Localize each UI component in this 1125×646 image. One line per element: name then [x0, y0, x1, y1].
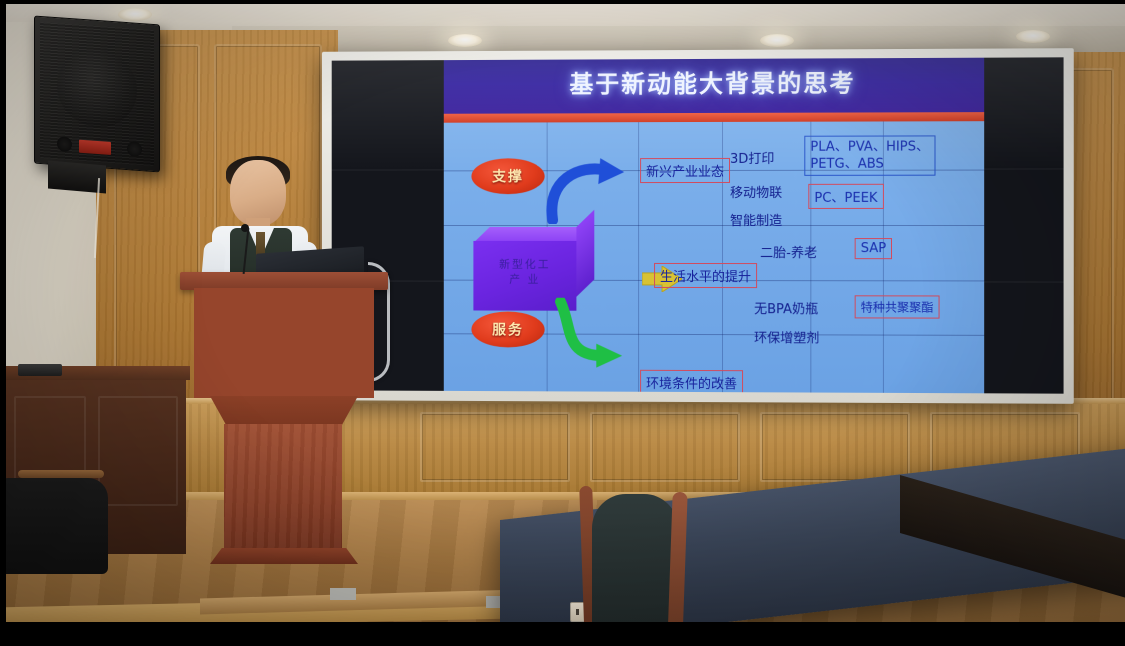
- speaker-port-icon: [127, 141, 142, 157]
- application-bpa-free-bottle: 无BPA奶瓶: [754, 298, 818, 317]
- desk-object: [18, 364, 62, 376]
- application-two-child-elderly: 二胎-养老: [760, 242, 817, 261]
- cube-label-line1: 新型化工: [473, 257, 576, 272]
- letterbox-top: [0, 0, 1125, 4]
- speaker-brand-badge: [79, 140, 111, 155]
- slide-ellipse-service: 服务: [471, 311, 544, 347]
- presentation-slide: 基于新动能大背景的思考 支撑: [444, 58, 984, 394]
- materials-3d-printing: PLA、PVA、HIPS、 PETG、ABS: [804, 135, 935, 175]
- green-curved-arrow-icon: [539, 298, 634, 374]
- lectern-column: [224, 424, 342, 554]
- application-eco-plasticizer: 环保增塑剂: [754, 327, 819, 346]
- slide-gridline: [638, 122, 639, 392]
- cube-label: 新型化工 产 业: [473, 257, 576, 287]
- ellipse-label: 服务: [492, 319, 524, 339]
- cube-label-line2: 产 业: [473, 272, 576, 287]
- outcome-label-environment: 环境条件的改善: [640, 370, 743, 394]
- led-video-wall[interactable]: 基于新动能大背景的思考 支撑: [322, 48, 1074, 404]
- downlight-icon: [1016, 30, 1050, 43]
- materials-special-copolyester: 特种共聚聚酯: [855, 295, 940, 318]
- desk-panel: [98, 396, 178, 506]
- outcome-label-new-industry: 新兴产业业态: [640, 158, 730, 183]
- materials-pc-peek: PC、PEEK: [808, 184, 883, 209]
- chair-right: [578, 478, 696, 646]
- materials-line-1: PLA、PVA、HIPS、: [810, 138, 929, 155]
- chair-left-armrest: [18, 470, 104, 478]
- conference-room-scene: 基于新动能大背景的思考 支撑: [0, 0, 1125, 646]
- led-screen-surface: 基于新动能大背景的思考 支撑: [332, 57, 1064, 393]
- slide-title: 基于新动能大背景的思考: [444, 63, 984, 100]
- chair-left: [0, 478, 108, 574]
- speaker-port-icon: [57, 136, 72, 152]
- ellipse-label: 支撑: [492, 166, 524, 186]
- cube-side-face: [576, 210, 594, 297]
- lectern: [188, 272, 380, 562]
- lectern-base: [210, 548, 358, 564]
- slide-body: 支撑 新型化工 产 业: [444, 121, 984, 393]
- letterbox-bottom: [0, 622, 1125, 646]
- application-3d-printing: 3D打印: [730, 148, 774, 167]
- application-mobile-iot: 移动物联: [730, 182, 782, 201]
- slide-ellipse-support: 支撑: [471, 158, 544, 194]
- presenter-head: [230, 160, 286, 226]
- downlight-icon: [448, 34, 482, 47]
- wall-panel: [760, 412, 910, 482]
- cable-clip: [330, 588, 356, 600]
- materials-sap: SAP: [855, 238, 893, 259]
- application-smart-manufacturing: 智能制造: [730, 210, 782, 229]
- lectern-body: [194, 288, 374, 398]
- slide-gridline: [444, 225, 984, 226]
- wall-panel: [420, 412, 570, 482]
- pa-speaker: [34, 16, 160, 173]
- letterbox-left: [0, 0, 6, 646]
- blue-curved-arrow-icon: [539, 148, 630, 224]
- downlight-icon: [760, 34, 794, 47]
- materials-line-2: PETG、ABS: [810, 156, 929, 173]
- outcome-label-living-standard: 生活水平的提升: [654, 263, 757, 288]
- wall-panel: [590, 412, 740, 482]
- downlight-icon: [118, 8, 152, 21]
